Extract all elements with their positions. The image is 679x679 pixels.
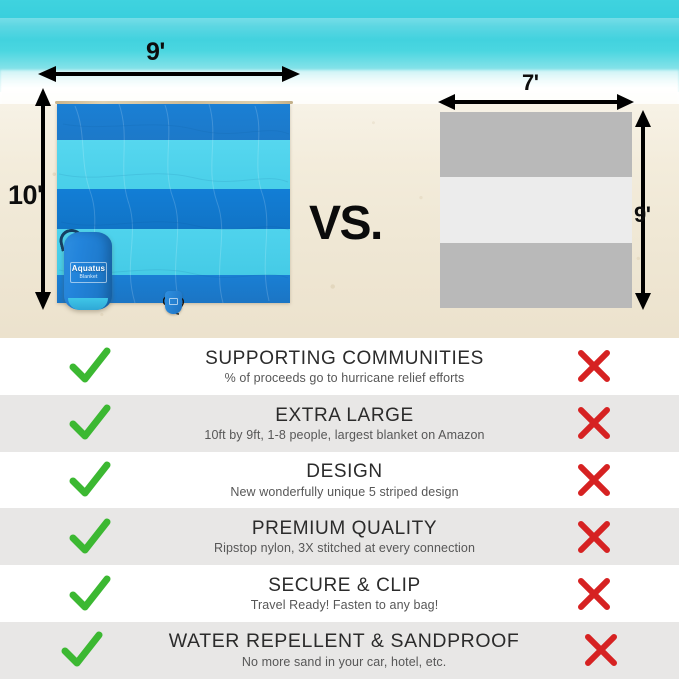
feature-title: DESIGN: [184, 461, 505, 482]
clip-pouch-logo: [169, 298, 178, 305]
check-icon: [68, 346, 112, 386]
cross-icon: [576, 348, 612, 384]
sack-body: Aquatus Blanket: [64, 232, 112, 310]
feature-title: WATER REPELLENT & SANDPROOF: [169, 631, 520, 653]
theirs-cell: [523, 632, 679, 668]
feature-subtitle: No more sand in your car, hotel, etc.: [169, 655, 520, 669]
feature-title: SECURE & CLIP: [184, 575, 505, 596]
competitor-stripe-1: [440, 112, 632, 177]
feature-title: SUPPORTING COMMUNITIES: [184, 348, 505, 369]
feature-subtitle: Ripstop nylon, 3X stitched at every conn…: [184, 541, 505, 555]
feature-cell: WATER REPELLENT & SANDPROOF No more sand…: [165, 631, 524, 669]
ours-cell: [0, 403, 180, 443]
ours-cell: [0, 517, 180, 557]
theirs-cell: [509, 519, 679, 555]
versus-label: VS.: [309, 196, 382, 251]
cross-icon: [576, 576, 612, 612]
competitor-stripe-3: [440, 243, 632, 308]
check-icon: [68, 574, 112, 614]
blanket-top-cord: [55, 101, 293, 104]
feature-subtitle: New wonderfully unique 5 striped design: [184, 485, 505, 499]
feature-cell: DESIGN New wonderfully unique 5 striped …: [180, 461, 509, 498]
theirs-cell: [509, 576, 679, 612]
right-width-label: 7': [522, 70, 538, 96]
cross-icon: [583, 632, 619, 668]
competitor-blanket: [440, 112, 632, 308]
width-arrow-left: [38, 65, 300, 83]
theirs-cell: [509, 348, 679, 384]
check-icon: [68, 460, 112, 500]
infographic-page: 9' 10': [0, 0, 679, 679]
sack-base: [68, 298, 108, 310]
clip-pouch-body: [165, 291, 182, 314]
feature-cell: SUPPORTING COMMUNITIES % of proceeds go …: [180, 348, 509, 385]
feature-cell: SECURE & CLIP Travel Ready! Fasten to an…: [180, 575, 509, 612]
theirs-cell: [509, 405, 679, 441]
ours-cell: [0, 460, 180, 500]
table-row: DESIGN New wonderfully unique 5 striped …: [0, 452, 679, 509]
check-icon: [60, 630, 104, 670]
brand-name: Aquatus: [72, 265, 105, 273]
table-row: SECURE & CLIP Travel Ready! Fasten to an…: [0, 565, 679, 622]
feature-cell: PREMIUM QUALITY Ripstop nylon, 3X stitch…: [180, 518, 509, 555]
feature-subtitle: % of proceeds go to hurricane relief eff…: [184, 371, 505, 385]
table-row: PREMIUM QUALITY Ripstop nylon, 3X stitch…: [0, 508, 679, 565]
cross-icon: [576, 519, 612, 555]
clip-pouch: [163, 291, 184, 317]
brand-logo: Aquatus Blanket: [70, 262, 107, 283]
cross-icon: [576, 462, 612, 498]
check-icon: [68, 517, 112, 557]
comparison-table: SUPPORTING COMMUNITIES % of proceeds go …: [0, 338, 679, 679]
feature-title: EXTRA LARGE: [184, 405, 505, 426]
theirs-cell: [509, 462, 679, 498]
ours-cell: [0, 630, 165, 670]
feature-cell: EXTRA LARGE 10ft by 9ft, 1-8 people, lar…: [180, 405, 509, 442]
stuff-sack: Aquatus Blanket: [64, 228, 112, 312]
feature-subtitle: Travel Ready! Fasten to any bag!: [184, 598, 505, 612]
table-row: EXTRA LARGE 10ft by 9ft, 1-8 people, lar…: [0, 395, 679, 452]
table-row: SUPPORTING COMMUNITIES % of proceeds go …: [0, 338, 679, 395]
ours-cell: [0, 346, 180, 386]
ours-cell: [0, 574, 180, 614]
beach-scene: 9' 10': [0, 0, 679, 338]
competitor-stripe-2: [440, 177, 632, 243]
check-icon: [68, 403, 112, 443]
feature-title: PREMIUM QUALITY: [184, 518, 505, 539]
left-width-label: 9': [146, 38, 165, 67]
left-height-label: 10': [8, 180, 43, 211]
table-row: WATER REPELLENT & SANDPROOF No more sand…: [0, 622, 679, 679]
feature-subtitle: 10ft by 9ft, 1-8 people, largest blanket…: [184, 428, 505, 442]
brand-subtitle: Blanket: [79, 275, 97, 280]
cross-icon: [576, 405, 612, 441]
right-height-label: 9': [634, 202, 650, 228]
